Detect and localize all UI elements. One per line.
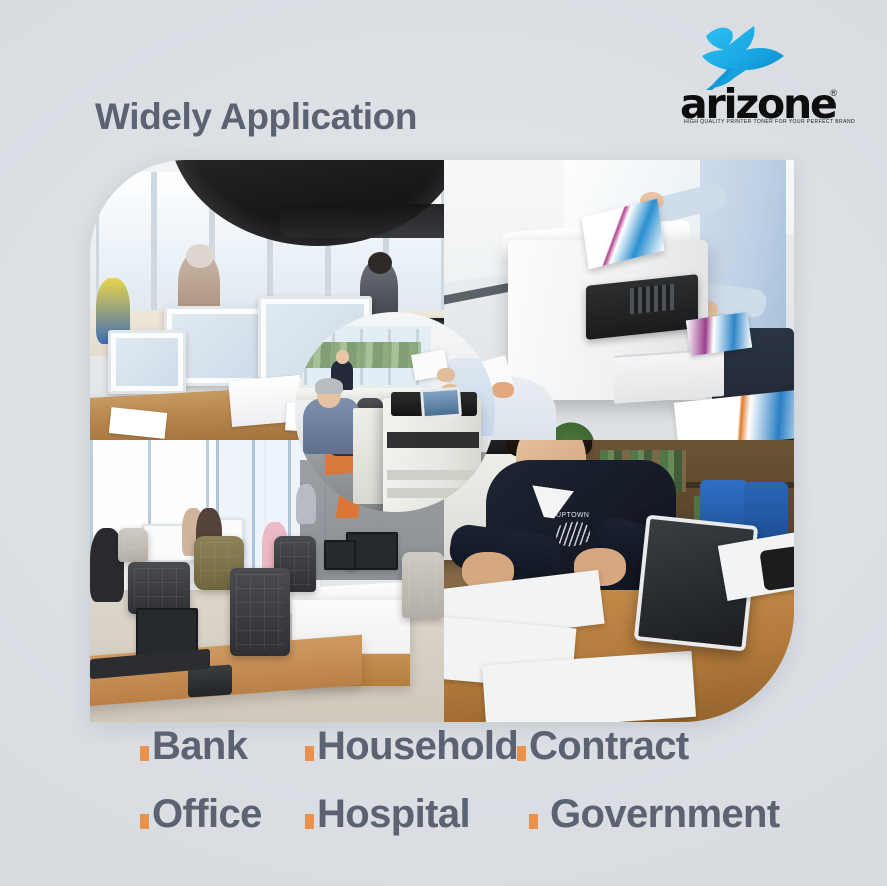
collage-panel-student-desk: UPTOWN xyxy=(444,440,794,722)
application-list: Bank Household Contract Office Hospital xyxy=(140,726,840,862)
poster-canvas: Widely Application arizone ® HIGH QUALIT… xyxy=(0,0,887,886)
application-item-household: Household xyxy=(305,726,517,766)
application-label: Office xyxy=(152,794,262,834)
application-row: Office Hospital Government xyxy=(140,794,840,862)
application-item-office: Office xyxy=(140,794,305,834)
page-title: Widely Application xyxy=(95,96,417,138)
application-label: Hospital xyxy=(317,794,470,834)
application-label: Household xyxy=(317,726,518,766)
application-item-bank: Bank xyxy=(140,726,305,766)
collage-panel-laser-printer xyxy=(444,160,794,440)
application-row: Bank Household Contract xyxy=(140,726,840,794)
brand-logo: arizone ® HIGH QUALITY PRINTER TONER FOR… xyxy=(680,22,835,137)
application-label: Contract xyxy=(529,726,689,766)
square-bullet-icon xyxy=(529,814,538,829)
square-bullet-icon xyxy=(140,814,149,829)
brand-tagline: HIGH QUALITY PRINTER TONER FOR YOUR PERF… xyxy=(684,119,833,125)
application-photo-collage: UPTOWN xyxy=(90,160,794,722)
collage-panel-copier-circle xyxy=(295,312,495,512)
square-bullet-icon xyxy=(517,746,526,761)
application-item-contract: Contract xyxy=(517,726,689,766)
application-item-hospital: Hospital xyxy=(305,794,517,834)
registered-mark: ® xyxy=(830,88,837,98)
square-bullet-icon xyxy=(140,746,149,761)
application-label: Government xyxy=(550,794,780,834)
square-bullet-icon xyxy=(305,814,314,829)
application-item-government: Government xyxy=(529,794,780,834)
square-bullet-icon xyxy=(305,746,314,761)
application-label: Bank xyxy=(152,726,247,766)
